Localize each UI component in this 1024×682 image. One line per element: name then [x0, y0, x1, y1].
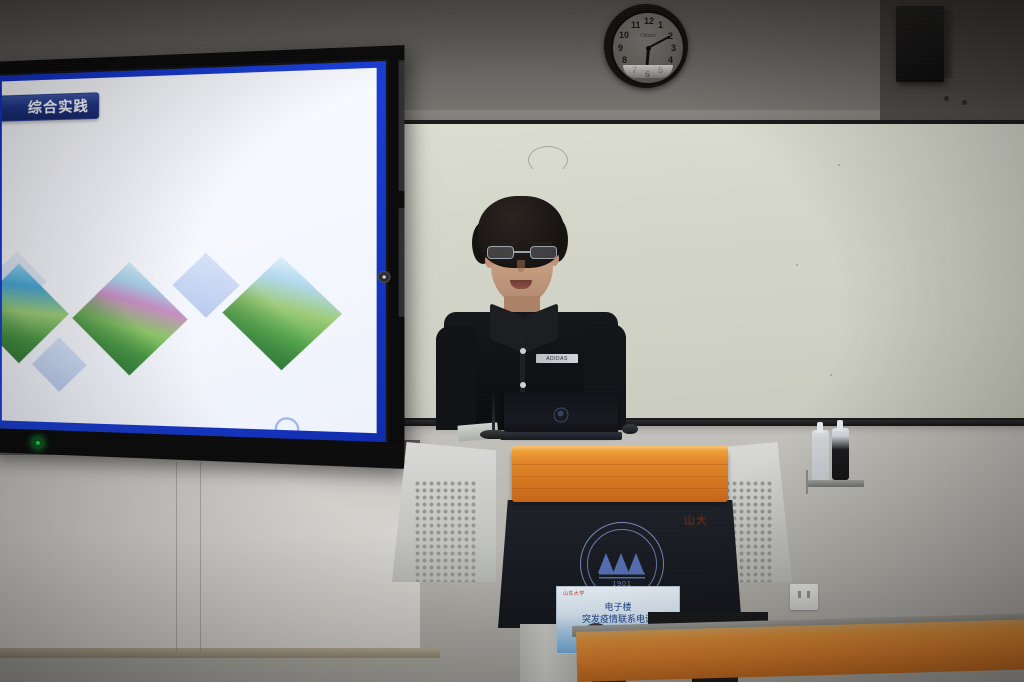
lower-left-wall: [0, 455, 420, 655]
glasses-bridge: [514, 251, 530, 253]
classroom-scene: 12 1 2 3 4 5 6 7 8 9 10 11 Citizen: [0, 0, 1024, 682]
lectern-wing-left: [392, 442, 496, 582]
slide-decor-ring: [275, 417, 300, 433]
clock-face: 12 1 2 3 4 5 6 7 8 9 10 11 Citizen: [611, 11, 685, 85]
wall-speaker-side: [944, 9, 954, 79]
baseboard: [0, 648, 440, 658]
whiteboard-speck: [796, 264, 798, 266]
glasses-icon: [487, 246, 557, 259]
whiteboard-speck: [830, 374, 832, 376]
slide-title-banner: 综合实践: [2, 92, 99, 122]
clock-numeral: 3: [671, 44, 676, 53]
wall-power-outlet[interactable]: [790, 584, 818, 610]
display-bezel: 综合实践 认真作业、实地采访考察，给生活在象牙塔的大学生提供了宝贵的机会 能够增…: [0, 59, 388, 445]
eyebrow-right: [528, 242, 552, 245]
spray-nozzle-icon: [837, 420, 843, 431]
remote-puck[interactable]: [622, 424, 638, 434]
wall-clock: 12 1 2 3 4 5 6 7 8 9 10 11 Citizen: [604, 4, 688, 88]
microphone-stem: [492, 392, 495, 432]
spray-nozzle-icon: [817, 422, 823, 433]
emblem-waves-icon: [599, 573, 645, 580]
smart-board-display[interactable]: 综合实践 认真作业、实地采访考察，给生活在象牙塔的大学生提供了宝贵的机会 能够增…: [0, 45, 404, 469]
laptop[interactable]: [504, 392, 618, 436]
display-frame-glow: 综合实践 认真作业、实地采访考察，给生活在象牙塔的大学生提供了宝贵的机会 能够增…: [0, 61, 386, 442]
display-power-button[interactable]: [378, 271, 391, 283]
jacket-logo: ADIDAS: [536, 354, 578, 363]
clock-numeral: 4: [668, 56, 673, 65]
nose: [517, 260, 525, 272]
clock-glass-glare: [623, 65, 673, 78]
spray-bottle-dark[interactable]: [832, 428, 849, 480]
lectern-worktop: [512, 450, 728, 502]
presentation-slide: 综合实践 认真作业、实地采访考察，给生活在象牙塔的大学生提供了宝贵的机会 能够增…: [2, 68, 377, 433]
arm-left: [436, 326, 476, 430]
notice-logo: 山东大学: [563, 590, 585, 597]
display-side-seam: [399, 60, 405, 190]
whiteboard-speck: [838, 164, 840, 166]
display-side-seam: [399, 208, 405, 317]
clock-numeral: 11: [631, 21, 641, 30]
wall-seam: [200, 462, 201, 652]
lens-right: [530, 246, 557, 259]
speaker-grille-icon: [414, 480, 476, 584]
jacket-button: [520, 348, 526, 354]
sanitizer-shelf: [808, 480, 864, 487]
emblem-mountains-icon: [598, 547, 646, 573]
clock-numeral: 1: [658, 21, 663, 30]
clock-numeral: 9: [618, 44, 623, 53]
wall-seam: [176, 462, 177, 652]
wall-fixture-dot: [962, 100, 967, 105]
slide-photo-diamond: [72, 262, 187, 376]
lens-left: [487, 246, 514, 259]
clock-brand-label: Citizen: [640, 33, 655, 39]
lectern-side-marking: 山大: [684, 512, 708, 528]
wall-fixture-dot: [944, 96, 949, 101]
slide-title: 综合实践: [28, 96, 89, 118]
microphone-base[interactable]: [480, 430, 508, 439]
slide-decor-diamond: [32, 337, 87, 392]
power-led-icon: [34, 439, 42, 447]
dell-logo-icon: [554, 407, 569, 422]
slide-photo-diamond: [222, 256, 342, 370]
whiteboard-marker-smudge: [528, 146, 568, 174]
clock-numeral: 12: [644, 17, 654, 26]
spray-bottle-clear[interactable]: [812, 430, 829, 482]
clock-numeral: 10: [619, 31, 629, 40]
laptop-base: [500, 432, 622, 440]
clock-center-pin: [646, 46, 651, 51]
clock-numeral: 8: [622, 56, 627, 65]
wall-speaker: [896, 6, 944, 82]
jacket-button: [520, 382, 526, 388]
